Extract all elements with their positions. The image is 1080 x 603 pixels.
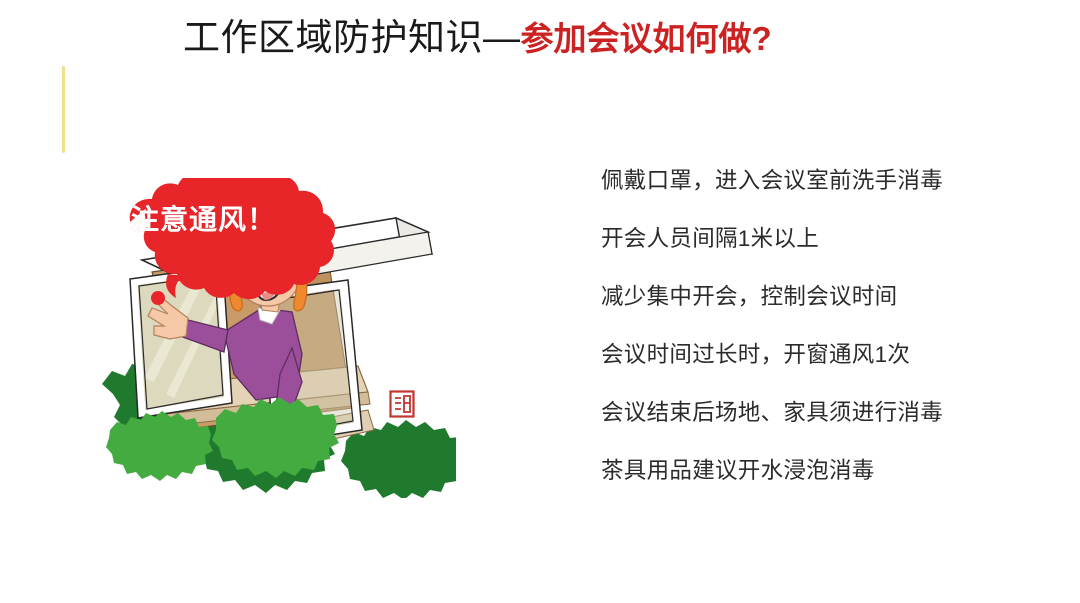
- list-item: 会议时间过长时，开窗通风1次: [601, 326, 1031, 384]
- page-title-main: 工作区域防护知识—: [183, 17, 521, 58]
- bubble-caption: 注意通风！: [131, 198, 276, 238]
- guideline-list: 佩戴口罩，进入会议室前洗手消毒 开会人员间隔1米以上 减少集中开会，控制会议时间…: [601, 152, 1031, 500]
- list-item: 茶具用品建议开水浸泡消毒: [601, 442, 1031, 500]
- accent-bar: [62, 66, 65, 153]
- page-title: 工作区域防护知识—参加会议如何做?: [183, 14, 772, 63]
- slide-canvas: 工作区域防护知识—参加会议如何做?: [0, 0, 1080, 603]
- list-item: 减少集中开会，控制会议时间: [601, 268, 1031, 326]
- list-item: 开会人员间隔1米以上: [601, 210, 1031, 268]
- list-item: 佩戴口罩，进入会议室前洗手消毒: [601, 152, 1031, 210]
- page-title-accent: 参加会议如何做?: [521, 20, 772, 57]
- list-item: 会议结束后场地、家具须进行消毒: [601, 384, 1031, 442]
- artist-seal: [389, 390, 415, 418]
